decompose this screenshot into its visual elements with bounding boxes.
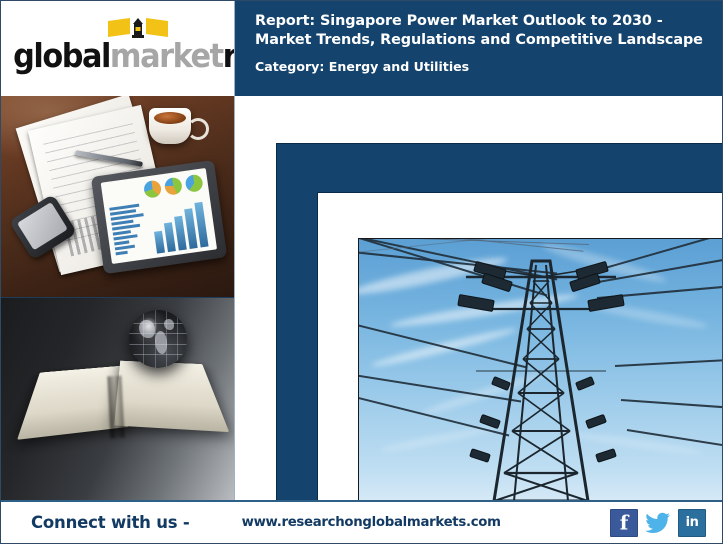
pylon-lattice — [436, 251, 646, 500]
image-frame-mat — [317, 192, 722, 500]
linkedin-icon[interactable] — [678, 509, 706, 537]
power-transmission-tower-photo — [358, 238, 722, 500]
main-image-panel — [235, 96, 722, 500]
coffee-surface — [154, 112, 186, 124]
logo-wrap: globalmarketresearch — [4, 18, 232, 80]
report-title: Report: Singapore Power Market Outlook t… — [255, 12, 704, 50]
footer: Connect with us - www.researchonglobalma… — [1, 500, 722, 543]
book-right-page — [114, 361, 229, 432]
body — [1, 96, 722, 500]
image-frame-outer — [276, 143, 722, 500]
website-url[interactable]: www.researchonglobalmarkets.com — [242, 515, 501, 530]
pylon-structure — [436, 251, 646, 500]
tablet-pie-charts — [143, 174, 205, 201]
logo-word-research: research — [222, 36, 235, 75]
logo-word-global: global — [13, 36, 110, 75]
connect-label: Connect with us - — [31, 513, 190, 532]
logo-word-market: market — [109, 36, 222, 75]
tablet-screen — [101, 168, 217, 264]
brand-logo-panel[interactable]: globalmarketresearch — [1, 1, 235, 96]
coffee-cup — [149, 108, 191, 144]
coffee-cup-handle — [187, 118, 209, 140]
facebook-icon[interactable] — [610, 509, 638, 537]
title-panel: Report: Singapore Power Market Outlook t… — [235, 1, 722, 96]
report-cover-page: globalmarketresearch Report: Singapore P… — [0, 0, 723, 544]
twitter-icon[interactable] — [645, 510, 671, 536]
desk-surface — [1, 96, 234, 298]
header: globalmarketresearch Report: Singapore P… — [1, 1, 722, 96]
tablet-horizontal-bars — [109, 203, 150, 259]
thumbnail-column — [1, 96, 235, 500]
twitter-bird-glyph — [645, 510, 671, 536]
desk-analytics-photo — [1, 96, 234, 298]
tablet-pie-3 — [185, 174, 204, 193]
tablet-pie-2 — [164, 177, 183, 196]
open-book-globe-photo — [1, 298, 234, 500]
report-category: Category: Energy and Utilities — [255, 59, 704, 75]
logo-wordmark: globalmarketresearch — [13, 36, 223, 76]
social-links — [610, 509, 712, 537]
tablet-pie-1 — [143, 180, 162, 199]
book-scene — [1, 298, 234, 500]
tablet-device — [91, 160, 227, 274]
tablet-vertical-bars — [150, 198, 216, 254]
glass-globe — [129, 310, 187, 368]
